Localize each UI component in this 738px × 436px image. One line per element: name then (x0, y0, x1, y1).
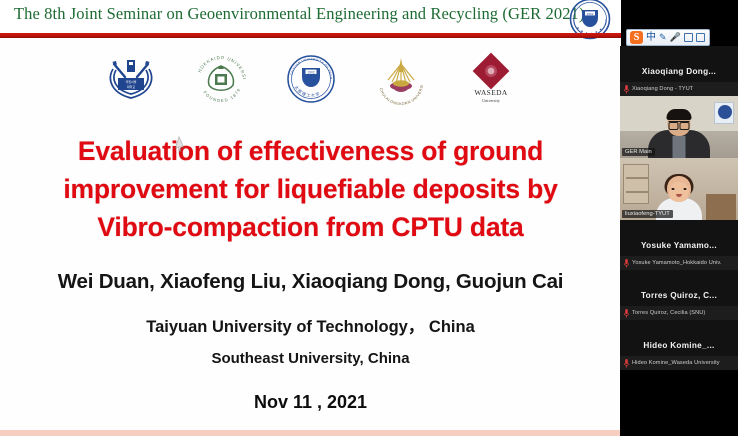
participant-footer-name: Hideo Komine_Waseda University (632, 360, 720, 366)
participant-footer: Xiaoqiang Dong - TYUT (620, 82, 738, 96)
chulalongkorn-university-logo-icon: CHULALONGKORN UNIVERSITY (369, 50, 433, 108)
presentation-title: Evaluation of effectiveness of ground im… (0, 132, 621, 246)
participant-footer: Hideo Komine_Waseda University (620, 356, 738, 370)
participant-footer-name: Xiaoqiang Dong - TYUT (632, 86, 693, 92)
shared-presentation-slide: The 8th Joint Seminar on Geoenvironmenta… (0, 0, 621, 430)
participant-tile[interactable]: Torres Quiroz, C... Torres Quiroz, Cecil… (620, 270, 738, 320)
participant-footer-name: Yosuke Yamamoto_Hokkaido Univ. (632, 260, 722, 266)
title-line-3: Vibro-compaction from CPTU data (0, 208, 621, 246)
participant-video-tile-active-speaker[interactable]: liuxiaofeng-TYUT (620, 158, 738, 220)
participant-display-name: Torres Quiroz, C... (641, 291, 717, 300)
partner-university-logos: 국립서울 대학교 HOKKAIDO UNIVERSITY FOUNDED 18 (0, 48, 621, 110)
participant-footer: Torres Quiroz, Cecilia (SNU) (620, 306, 738, 320)
sogou-logo-icon[interactable]: S (630, 31, 643, 44)
participant-display-name: Yosuke Yamamo... (641, 241, 717, 250)
seoul-national-university-logo-icon: 국립서울 대학교 (99, 50, 163, 108)
svg-text:WASEDA: WASEDA (474, 88, 507, 97)
participant-tile[interactable]: Yosuke Yamamo... Yosuke Yamamoto_Hokkaid… (620, 220, 738, 270)
affiliation-secondary: Southeast University, China (0, 350, 621, 367)
affiliation-primary: Taiyuan University of Technology， China (0, 313, 621, 337)
participant-footer-name: Torres Quiroz, Cecilia (SNU) (632, 310, 705, 316)
author-list: Wei Duan, Xiaofeng Liu, Xiaoqiang Dong, … (0, 270, 621, 294)
panel-icon[interactable] (684, 33, 693, 42)
slide-bottom-edge (0, 430, 621, 436)
microphone-icon[interactable]: 🎤 (670, 33, 681, 42)
empty-filmstrip-area (620, 370, 738, 436)
title-line-1: Evaluation of effectiveness of ground (0, 132, 621, 170)
video-name-label: liuxiaofeng-TYUT (622, 210, 673, 218)
seminar-title: The 8th Joint Seminar on Geoenvironmenta… (14, 4, 585, 24)
svg-text:1902: 1902 (307, 70, 315, 74)
ime-language-mode[interactable]: 中 (646, 33, 656, 43)
waseda-university-logo-icon: WASEDA University (459, 50, 523, 108)
svg-text:University: University (482, 98, 501, 103)
participant-display-name: Xiaoqiang Dong... (642, 67, 716, 76)
slide-header: The 8th Joint Seminar on Geoenvironmenta… (0, 0, 621, 34)
taiyuan-university-of-technology-logo-icon: TAIYUAN UNIVERSITY OF TECHNOLOGY 太原理工大学 … (279, 50, 343, 108)
ime-toolbar[interactable]: S 中 ✎ 🎤 (626, 29, 710, 46)
svg-text:대학교: 대학교 (126, 84, 135, 89)
participant-tile[interactable]: Hideo Komine_... Hideo Komine_Waseda Uni… (620, 320, 738, 370)
svg-text:FOUNDED 1876: FOUNDED 1876 (202, 87, 241, 103)
microphone-icon (624, 259, 629, 267)
pen-icon[interactable]: ✎ (659, 33, 667, 42)
participant-tile[interactable]: Xiaoqiang Dong... Xiaoqiang Dong - TYUT (620, 46, 738, 96)
participants-filmstrip[interactable]: Xiaoqiang Dong... Xiaoqiang Dong - TYUT (620, 46, 738, 436)
participant-video-tile[interactable]: GER Main (620, 96, 738, 158)
microphone-icon (624, 359, 629, 367)
header-divider-rule (0, 33, 621, 38)
microphone-icon (624, 85, 629, 93)
title-line-2: improvement for liquefiable deposits by (0, 170, 621, 208)
keyboard-icon[interactable] (696, 33, 705, 42)
participant-footer: Yosuke Yamamoto_Hokkaido Univ. (620, 256, 738, 270)
svg-text:국립서울: 국립서울 (125, 79, 136, 84)
participant-display-name: Hideo Komine_... (643, 341, 714, 350)
svg-text:1902: 1902 (587, 12, 594, 16)
presentation-date: Nov 11 , 2021 (0, 392, 621, 413)
hokkaido-university-logo-icon: HOKKAIDO UNIVERSITY FOUNDED 1876 (189, 50, 253, 108)
video-name-label: GER Main (622, 148, 655, 156)
microphone-icon (624, 309, 629, 317)
zoom-meeting-screen-share: The 8th Joint Seminar on Geoenvironmenta… (0, 0, 738, 436)
